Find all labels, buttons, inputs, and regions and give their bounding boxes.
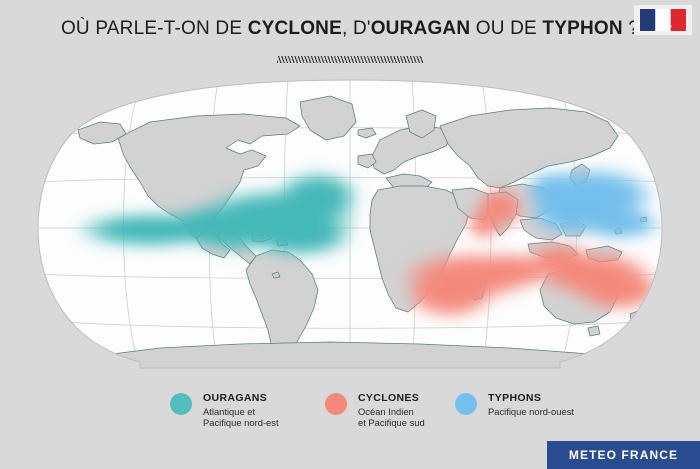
legend-label: OURAGANS: [203, 392, 279, 404]
legend: OURAGANSAtlantique et Pacifique nord-est…: [0, 392, 700, 440]
title-segment-1: CYCLONE: [248, 18, 342, 39]
legend-label: TYPHONS: [488, 392, 574, 404]
page-title: OÙ PARLE-T-ON DE CYCLONE, D'OURAGAN OU D…: [0, 18, 700, 40]
title-segment-5: TYPHON: [542, 18, 622, 39]
meteo-france-label: METEO FRANCE: [569, 448, 678, 462]
title-segment-4: OU DE: [470, 18, 542, 39]
republique-francaise-logo: [634, 5, 692, 35]
legend-color-swatch: [170, 393, 192, 415]
legend-description: Pacifique nord-ouest: [488, 406, 574, 417]
legend-text: TYPHONSPacifique nord-ouest: [488, 392, 574, 417]
legend-color-swatch: [325, 393, 347, 415]
legend-item-cyclones: CYCLONESOcéan Indien et Pacifique sud: [325, 392, 425, 429]
legend-text: CYCLONESOcéan Indien et Pacifique sud: [358, 392, 425, 429]
world-map: [0, 78, 700, 378]
legend-item-ouragans: OURAGANSAtlantique et Pacifique nord-est: [170, 392, 279, 429]
zone-typhons-pacifique-nord-ouest: [522, 166, 664, 240]
legend-text: OURAGANSAtlantique et Pacifique nord-est: [203, 392, 279, 429]
title-segment-0: OÙ PARLE-T-ON DE: [61, 18, 248, 39]
title-divider: [277, 56, 423, 63]
meteo-france-badge: METEO FRANCE: [547, 441, 700, 469]
legend-label: CYCLONES: [358, 392, 425, 404]
infographic-root: OÙ PARLE-T-ON DE CYCLONE, D'OURAGAN OU D…: [0, 0, 700, 469]
legend-item-typhons: TYPHONSPacifique nord-ouest: [455, 392, 574, 417]
title-segment-3: OURAGAN: [371, 18, 471, 39]
legend-description: Océan Indien et Pacifique sud: [358, 406, 425, 429]
legend-description: Atlantique et Pacifique nord-est: [203, 406, 279, 429]
title-segment-2: , D': [342, 18, 371, 39]
legend-color-swatch: [455, 393, 477, 415]
